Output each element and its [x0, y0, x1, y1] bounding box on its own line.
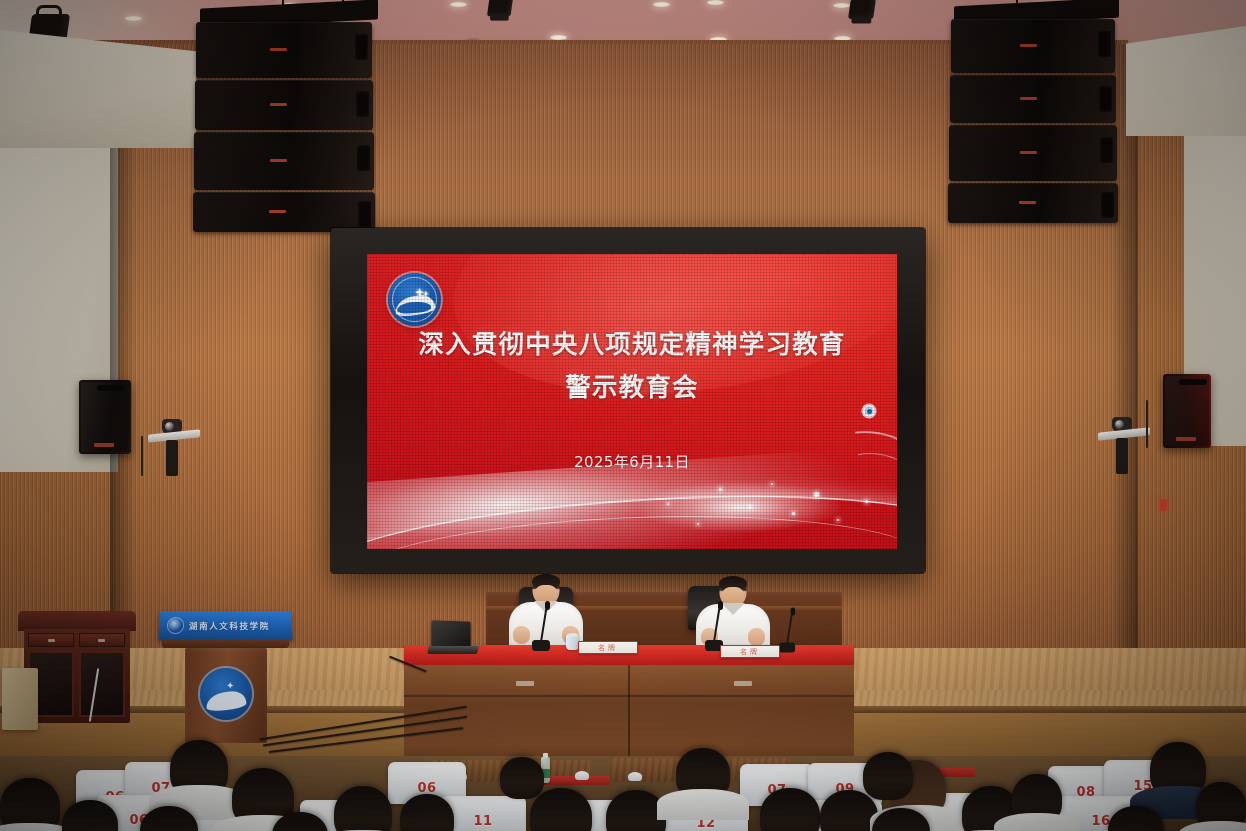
microphone-left	[532, 640, 550, 651]
attendee	[1196, 782, 1246, 831]
sparkle	[719, 488, 722, 491]
podium-banner: 湖南人文科技学院	[158, 611, 292, 640]
attendee	[872, 808, 930, 831]
laptop[interactable]	[432, 621, 472, 648]
podium-column: ✦	[185, 648, 267, 743]
circle-watermark-icon	[863, 405, 875, 417]
downlight	[833, 3, 850, 8]
presentation-slide: ✦ ✦ ✦ 深入贯彻中央八项规定精神学习教育 警示教育会 2025年6月11日	[367, 254, 897, 549]
covered-cup	[575, 771, 589, 780]
attendee	[530, 788, 592, 831]
sparkle	[667, 503, 669, 505]
attendee	[863, 752, 913, 800]
ceiling-speaker-array-left	[192, 8, 380, 234]
nameplate-left: 名牌	[578, 641, 638, 654]
floor-panel-box	[2, 668, 38, 730]
wall-speaker-left	[79, 380, 131, 454]
right-ceiling-soffit	[1126, 26, 1246, 136]
sparkle	[697, 523, 699, 525]
nameplate-right: 名牌	[720, 645, 780, 658]
attendee	[334, 786, 392, 831]
ceiling-spotlight	[488, 0, 512, 16]
emergency-indicator	[1160, 499, 1167, 511]
attendee	[140, 806, 198, 831]
podium-banner-text: 湖南人文科技学院	[189, 620, 270, 632]
attendee	[0, 778, 60, 831]
nameplate-text: 名牌	[723, 648, 777, 655]
sparkle	[792, 512, 795, 515]
sparkle	[865, 500, 868, 503]
attendee	[170, 740, 228, 798]
auditorium-scene: ✦ ✦ ✦ 深入贯彻中央八项规定精神学习教育 警示教育会 2025年6月11日	[0, 0, 1246, 831]
sparkle	[771, 483, 773, 485]
ceiling-spotlight	[849, 0, 874, 19]
downlight	[653, 2, 670, 7]
university-seal-icon: ✦	[200, 668, 252, 720]
slide-title-line1: 深入贯彻中央八项规定精神学习教育	[377, 332, 887, 360]
covered-cup	[628, 772, 642, 781]
slide-title-block: 深入贯彻中央八项规定精神学习教育 警示教育会	[367, 332, 897, 402]
attendee	[1108, 806, 1164, 831]
nameplate-text: 名牌	[581, 644, 635, 651]
attendee	[1012, 774, 1062, 824]
camera-left	[148, 432, 200, 440]
wall-speaker-right	[1163, 374, 1211, 448]
led-screen-frame: ✦ ✦ ✦ 深入贯彻中央八项规定精神学习教育 警示教育会 2025年6月11日	[331, 228, 925, 573]
attendee	[760, 788, 820, 831]
slide-title-line2: 警示教育会	[377, 375, 887, 403]
downlight	[125, 16, 142, 21]
microphone-extra	[779, 643, 795, 653]
university-emblem-icon: ✦ ✦ ✦	[388, 273, 441, 326]
attendee	[272, 812, 328, 831]
camera-right	[1098, 430, 1150, 438]
sparkle	[748, 505, 752, 509]
camera-cable-right	[1146, 400, 1148, 448]
podium-desk-top	[162, 639, 289, 648]
camera-cable-left	[141, 436, 143, 476]
podium-banner-logo-icon	[168, 618, 183, 633]
attendee	[676, 748, 730, 800]
sparkle	[837, 519, 839, 521]
attendee	[400, 794, 454, 831]
podium: 湖南人文科技学院 ✦	[159, 611, 292, 743]
downlight	[707, 0, 724, 5]
ceiling-speaker-array-right	[946, 6, 1121, 225]
downlight	[450, 2, 467, 7]
sparkle	[814, 492, 819, 497]
attendee	[62, 800, 118, 831]
